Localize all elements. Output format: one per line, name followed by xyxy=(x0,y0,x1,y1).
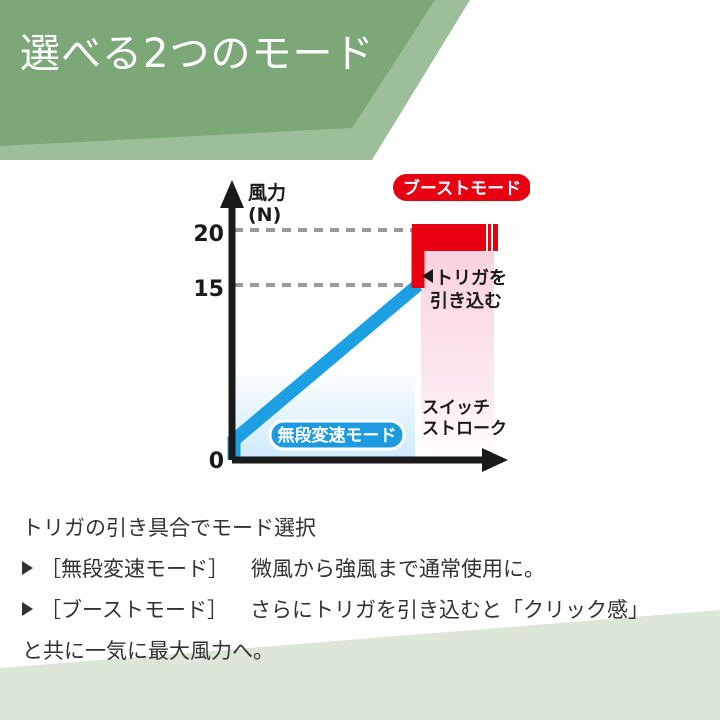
variable-mode-badge-label: 無段変速モード xyxy=(278,425,397,446)
x-axis-title-line1: スイッチ xyxy=(422,398,490,418)
boost-top-bar xyxy=(412,224,498,251)
trigger-callout-line2: 引き込む xyxy=(430,291,502,312)
x-axis-arrow-icon xyxy=(482,448,508,472)
bullet-item-variable-mode: ［無段変速モード］微風から強風まで通常使用に。 xyxy=(22,549,712,590)
bullet-label-boost-mode: ［ブーストモード］ xyxy=(40,598,228,622)
description-block: トリガの引き具合でモード選択 ［無段変速モード］微風から強風まで通常使用に。 ［… xyxy=(22,508,712,672)
continuation-text: と共に一気に最大風力へ。 xyxy=(22,639,274,663)
x-axis-title-line2: ストローク xyxy=(422,419,507,439)
fan-power-chart: 20 15 0 風力 (N) スイッチ ストローク ブーストモード トリガを 引… xyxy=(190,168,530,488)
trigger-callout-line1: トリガを xyxy=(435,268,507,289)
bullet-triangle-icon xyxy=(22,602,33,616)
y-axis-title-line1: 風力 xyxy=(248,181,286,204)
lead-text: トリガの引き具合でモード選択 xyxy=(22,516,316,540)
boost-mode-badge-label: ブーストモード xyxy=(403,178,521,199)
bullet-text-boost-mode: さらにトリガを引き込むと「クリック感」 xyxy=(250,598,649,622)
page-title: 選べる2つのモード xyxy=(20,30,374,78)
header-decoration-band xyxy=(0,0,720,160)
ytick-label-20: 20 xyxy=(193,222,224,247)
y-axis-arrow-icon xyxy=(220,180,244,208)
y-axis-title-line2: (N) xyxy=(248,204,281,226)
bullet-continuation-line: と共に一気に最大風力へ。 xyxy=(22,631,712,672)
boost-mode-badge: ブーストモード xyxy=(393,174,530,201)
lead-line: トリガの引き具合でモード選択 xyxy=(22,508,712,549)
variable-mode-badge: 無段変速モード xyxy=(270,421,404,449)
bullet-text-variable-mode: 微風から強風まで通常使用に。 xyxy=(251,557,545,581)
ytick-label-15: 15 xyxy=(193,277,224,302)
ytick-label-0: 0 xyxy=(209,449,224,474)
bullet-triangle-icon xyxy=(22,561,33,575)
bullet-label-variable-mode: ［無段変速モード］ xyxy=(40,557,229,581)
bullet-item-boost-mode: ［ブーストモード］さらにトリガを引き込むと「クリック感」 xyxy=(22,590,712,631)
